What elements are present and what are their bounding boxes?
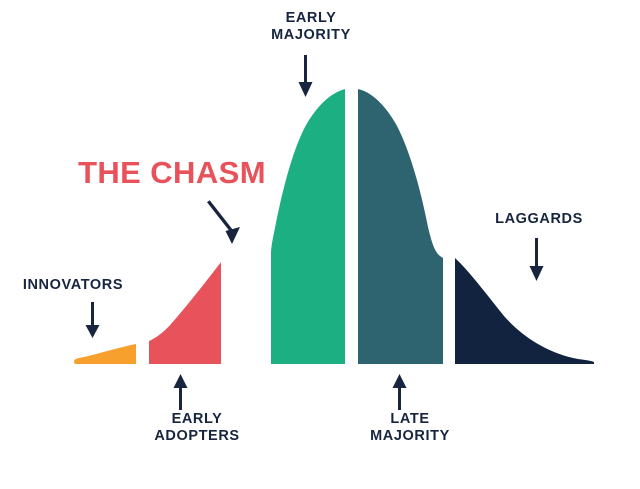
innovators-arrow bbox=[86, 302, 100, 338]
segment-early-adopters[interactable] bbox=[149, 262, 221, 364]
label-early-adopters: EARLY ADOPTERS bbox=[134, 411, 260, 445]
laggards-arrow bbox=[530, 238, 544, 281]
label-late-majority: LATE MAJORITY bbox=[340, 411, 480, 445]
label-early-majority: EARLY MAJORITY bbox=[246, 10, 376, 44]
late-majority-arrow bbox=[393, 374, 407, 410]
curve-shapes bbox=[0, 0, 640, 489]
segment-innovators[interactable] bbox=[74, 344, 136, 364]
early-majority-arrow bbox=[299, 55, 313, 97]
label-the-chasm: THE CHASM bbox=[62, 155, 282, 191]
early-adopters-arrow bbox=[174, 374, 188, 410]
segment-late-majority[interactable] bbox=[358, 89, 443, 364]
label-laggards: LAGGARDS bbox=[433, 211, 640, 228]
segment-laggards[interactable] bbox=[455, 258, 594, 364]
chasm-arrow bbox=[207, 200, 240, 244]
label-innovators: INNOVATORS bbox=[8, 277, 138, 294]
adoption-curve-diagram: INNOVATORS EARLY ADOPTERS EARLY MAJORITY… bbox=[0, 0, 640, 489]
segment-early-majority[interactable] bbox=[271, 89, 345, 364]
